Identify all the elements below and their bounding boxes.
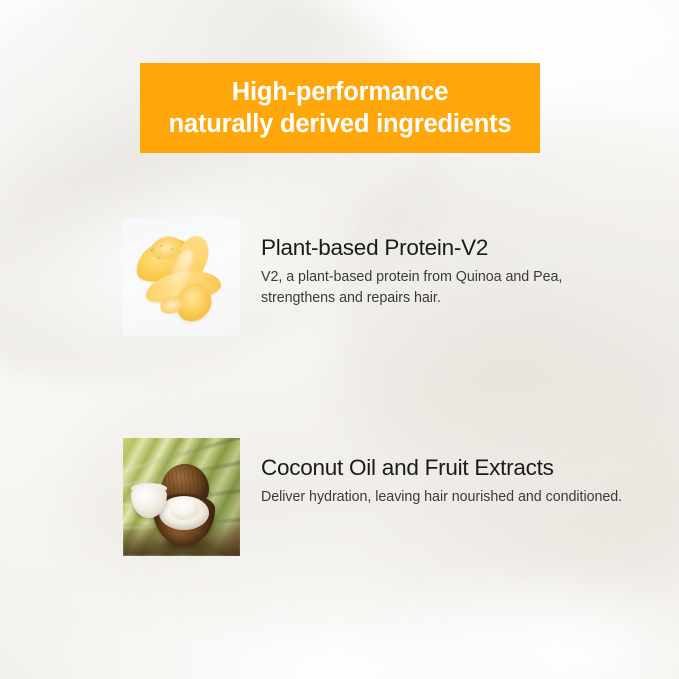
ingredient-item-plant-based-protein: Plant-based Protein-V2 V2, a plant-based… <box>123 218 621 336</box>
headline-text: High-performance naturally derived ingre… <box>169 76 512 141</box>
ingredient-description: Deliver hydration, leaving hair nourishe… <box>261 487 631 508</box>
ingredient-text-column: Coconut Oil and Fruit Extracts Deliver h… <box>261 438 631 508</box>
ingredient-title: Coconut Oil and Fruit Extracts <box>261 455 631 480</box>
ingredient-title: Plant-based Protein-V2 <box>261 235 621 260</box>
content-container: High-performance naturally derived ingre… <box>0 0 679 679</box>
ingredient-description: V2, a plant-based protein from Quinoa an… <box>261 267 621 309</box>
ingredient-text-column: Plant-based Protein-V2 V2, a plant-based… <box>261 218 621 310</box>
headline-banner: High-performance naturally derived ingre… <box>140 63 540 153</box>
ingredient-item-coconut-oil: Coconut Oil and Fruit Extracts Deliver h… <box>123 438 631 556</box>
coconut-image-vignette <box>123 438 240 556</box>
honey-serum-swirl-image <box>123 218 240 336</box>
coconut-oil-image <box>123 438 240 556</box>
ingredient-infographic-page: High-performance naturally derived ingre… <box>0 0 679 679</box>
